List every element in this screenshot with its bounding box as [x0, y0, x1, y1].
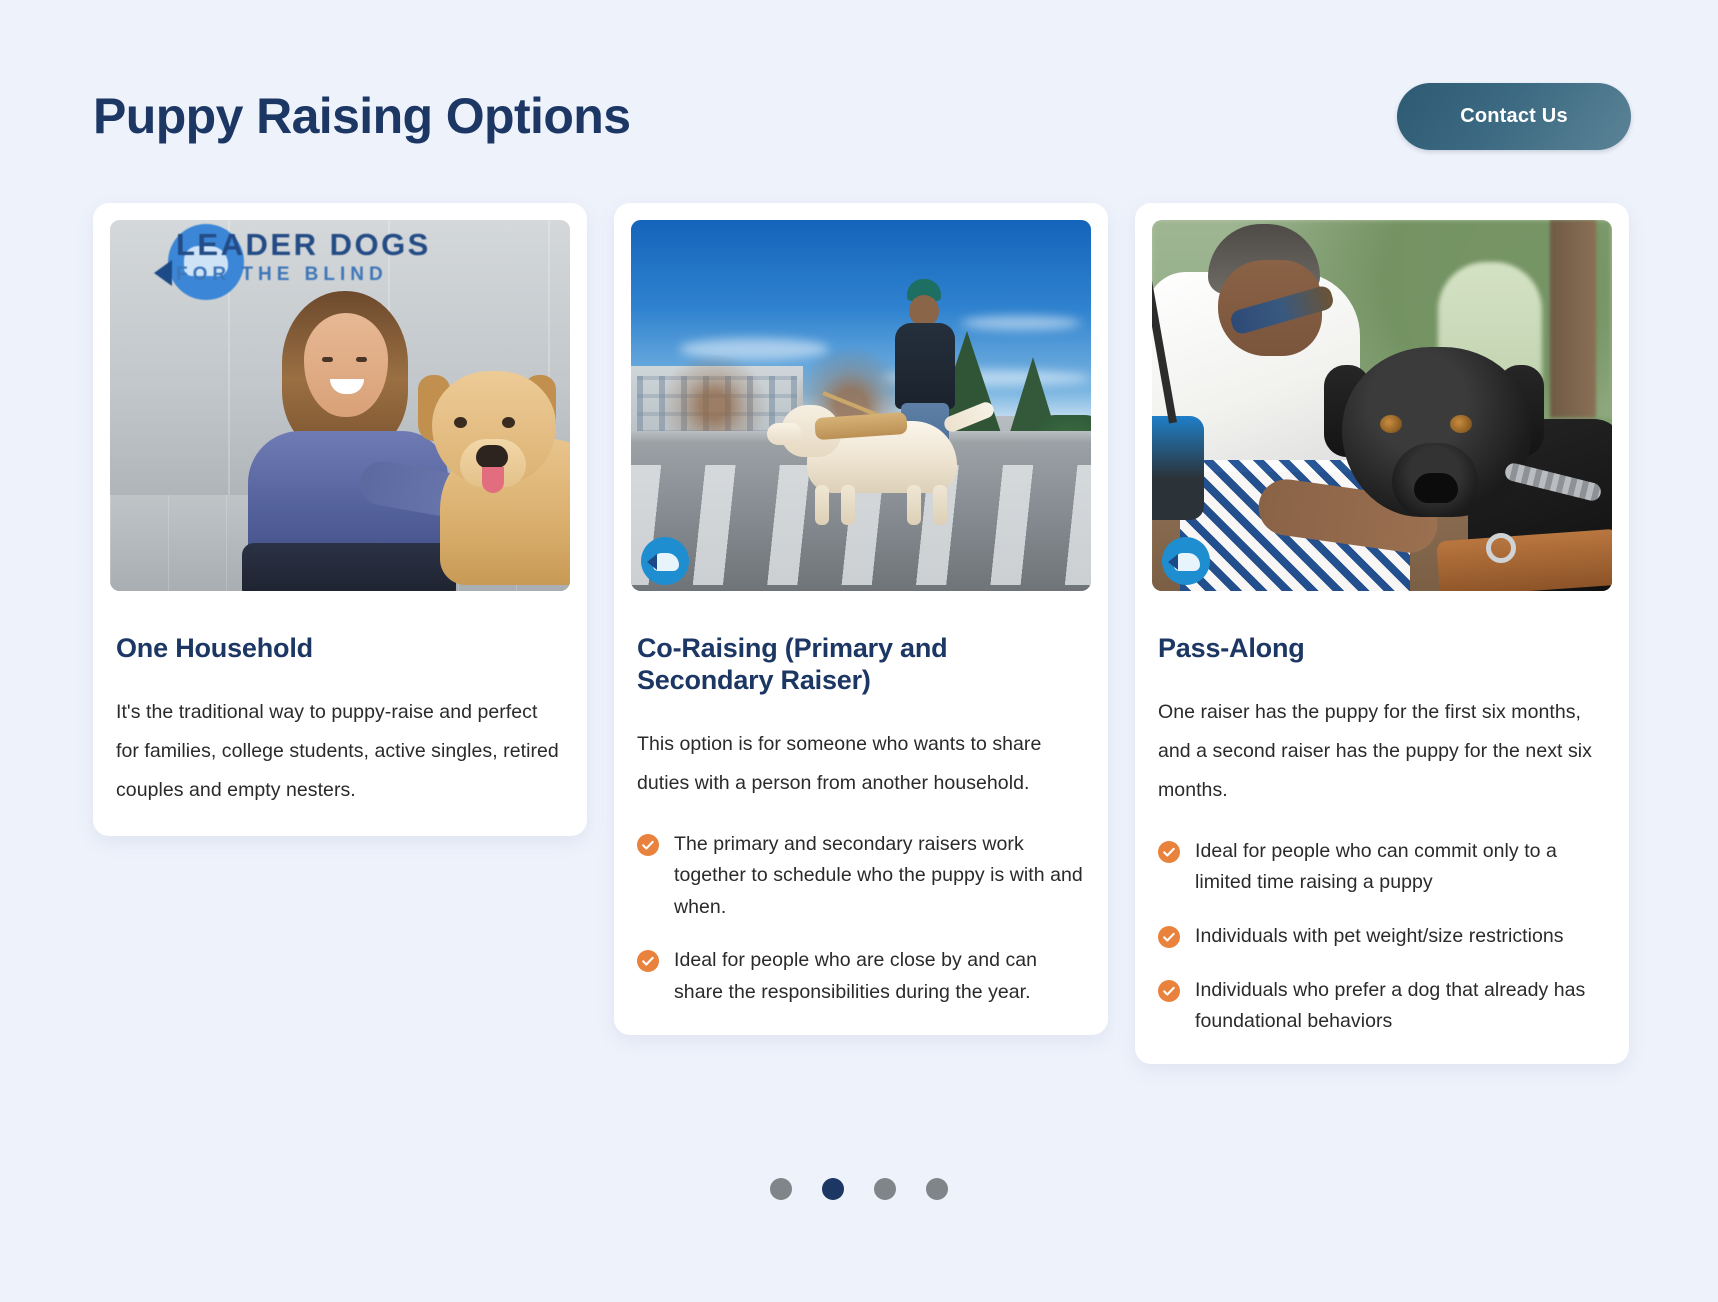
list-item-text: Individuals with pet weight/size restric… [1195, 925, 1564, 947]
carousel-pagination [0, 1178, 1718, 1200]
dog-eye-right [1450, 415, 1472, 433]
photo-guide-dog [781, 389, 987, 525]
card-title: Pass-Along [1158, 633, 1606, 665]
list-item-text: The primary and secondary raisers work t… [674, 833, 1083, 918]
card-description: It's the traditional way to puppy-raise … [116, 693, 564, 810]
card-image-pass-along [1152, 220, 1612, 591]
card-description: This option is for someone who wants to … [637, 725, 1085, 803]
logo-arrow-icon [154, 260, 172, 286]
card-body-co-raising: Co-Raising (Primary and Secondary Raiser… [631, 591, 1091, 1009]
leader-dogs-badge-icon [641, 537, 689, 585]
dog-eye-left [454, 417, 467, 428]
list-item-text: Ideal for people who can commit only to … [1195, 840, 1557, 894]
dog-leg [841, 485, 855, 525]
page-title: Puppy Raising Options [93, 90, 630, 143]
harness-ring [1486, 533, 1516, 563]
list-item: The primary and secondary raisers work t… [637, 829, 1085, 924]
dog-leg [907, 485, 921, 525]
card-title: One Household [116, 633, 564, 665]
photo-golden-retriever [410, 335, 570, 585]
check-circle-icon [637, 834, 659, 856]
signage-line-1: LEADER DOGS [176, 228, 568, 262]
check-circle-icon [1158, 980, 1180, 1002]
card-bullet-list: Ideal for people who can commit only to … [1158, 836, 1606, 1038]
dog-nose [1414, 473, 1458, 503]
list-item: Individuals with pet weight/size restric… [1158, 921, 1606, 953]
dog-nose [476, 445, 508, 468]
list-item: Individuals who prefer a dog that alread… [1158, 975, 1606, 1038]
card-image-co-raising [631, 220, 1091, 591]
person-eye-left [322, 357, 333, 362]
card-title: Co-Raising (Primary and Secondary Raiser… [637, 633, 1085, 697]
card-body-pass-along: Pass-Along One raiser has the puppy for … [1152, 591, 1612, 1038]
page-header: Puppy Raising Options Contact Us [93, 76, 1631, 156]
carousel-dot-1[interactable] [770, 1178, 792, 1200]
option-card-one-household[interactable]: LEADER DOGS FOR THE BLIND [93, 203, 587, 836]
person-smile [330, 379, 364, 394]
puppy-raising-options-page: Puppy Raising Options Contact Us LEADER … [0, 0, 1718, 1302]
dog-eye-left [1380, 415, 1402, 433]
carousel-dot-3[interactable] [874, 1178, 896, 1200]
carousel-dot-2[interactable] [822, 1178, 844, 1200]
card-body-one-household: One Household It's the traditional way t… [110, 591, 570, 810]
option-card-pass-along[interactable]: Pass-Along One raiser has the puppy for … [1135, 203, 1629, 1064]
card-footer-padding [1152, 1038, 1612, 1064]
card-image-one-household: LEADER DOGS FOR THE BLIND [110, 220, 570, 591]
list-item: Ideal for people who are close by and ca… [637, 945, 1085, 1008]
signage-line-2: FOR THE BLIND [176, 262, 568, 288]
card-bullet-list: The primary and secondary raisers work t… [637, 829, 1085, 1009]
card-footer-padding [631, 1009, 1091, 1035]
option-card-co-raising[interactable]: Co-Raising (Primary and Secondary Raiser… [614, 203, 1108, 1035]
list-item: Ideal for people who can commit only to … [1158, 836, 1606, 899]
leader-dogs-badge-icon [1162, 537, 1210, 585]
dog-leg [815, 485, 829, 525]
photo-cloud [961, 316, 1081, 330]
photo-black-labrador [1318, 323, 1612, 591]
list-item-text: Individuals who prefer a dog that alread… [1195, 979, 1585, 1033]
person-eye-right [356, 357, 367, 362]
check-circle-icon [637, 950, 659, 972]
dog-harness [1436, 529, 1612, 591]
card-description: One raiser has the puppy for the first s… [1158, 693, 1606, 810]
check-circle-icon [1158, 841, 1180, 863]
man-backpack [1152, 416, 1204, 520]
person-face [304, 313, 388, 417]
signage-text: LEADER DOGS FOR THE BLIND [176, 228, 568, 288]
option-cards-carousel: LEADER DOGS FOR THE BLIND [93, 203, 1631, 1064]
dog-snout [767, 423, 801, 445]
dog-leg [933, 485, 947, 525]
check-circle-icon [1158, 926, 1180, 948]
dog-eye-right [502, 417, 515, 428]
dog-tongue [482, 467, 504, 493]
contact-us-button[interactable]: Contact Us [1397, 83, 1631, 150]
list-item-text: Ideal for people who are close by and ca… [674, 949, 1037, 1003]
carousel-dot-4[interactable] [926, 1178, 948, 1200]
card-footer-padding [110, 810, 570, 836]
